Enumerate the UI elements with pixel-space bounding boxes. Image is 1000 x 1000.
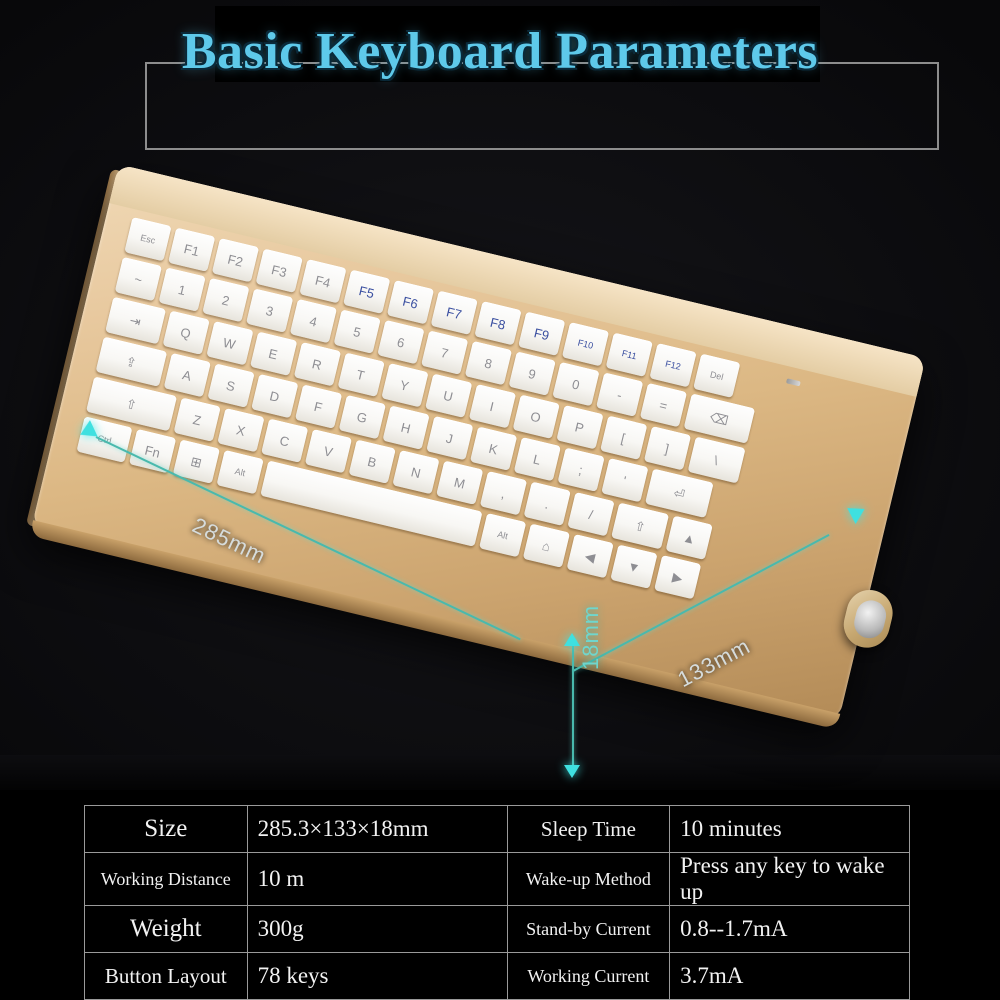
spec-label: Weight [85,906,248,953]
spec-value: 0.8--1.7mA [670,906,910,953]
keyboard-illustration: EscF1F2F3F4F5F6F7F8F9F10F11F12Del~123456… [2,164,965,790]
spec-value: 3.7mA [670,953,910,1000]
page-title: Basic Keyboard Parameters [0,22,1000,81]
spec-value: 10 minutes [670,806,910,853]
specification-table: Size 285.3×133×18mm Sleep Time 10 minute… [84,805,910,1000]
dimension-line-height [572,642,574,772]
table-row: Button Layout 78 keys Working Current 3.… [85,953,910,1000]
spec-label: Working Current [507,953,670,1000]
spec-value: Press any key to wake up [670,853,910,906]
spec-value: 78 keys [247,953,507,1000]
spec-value: 285.3×133×18mm [247,806,507,853]
spec-label: Size [85,806,248,853]
spec-label: Wake-up Method [507,853,670,906]
spec-value: 10 m [247,853,507,906]
spec-value: 300g [247,906,507,953]
dimension-arrow-height-bottom [564,765,580,778]
spec-label: Stand-by Current [507,906,670,953]
product-spec-page: Basic Keyboard Parameters EscF1F2F3F4F5F… [0,0,1000,1000]
spec-label: Button Layout [85,953,248,1000]
table-row: Weight 300g Stand-by Current 0.8--1.7mA [85,906,910,953]
table-row: Working Distance 10 m Wake-up Method Pre… [85,853,910,906]
table-row: Size 285.3×133×18mm Sleep Time 10 minute… [85,806,910,853]
spec-label: Working Distance [85,853,248,906]
dimension-label-height: 18mm [578,605,604,670]
product-photo: EscF1F2F3F4F5F6F7F8F9F10F11F12Del~123456… [0,150,1000,790]
spec-label: Sleep Time [507,806,670,853]
